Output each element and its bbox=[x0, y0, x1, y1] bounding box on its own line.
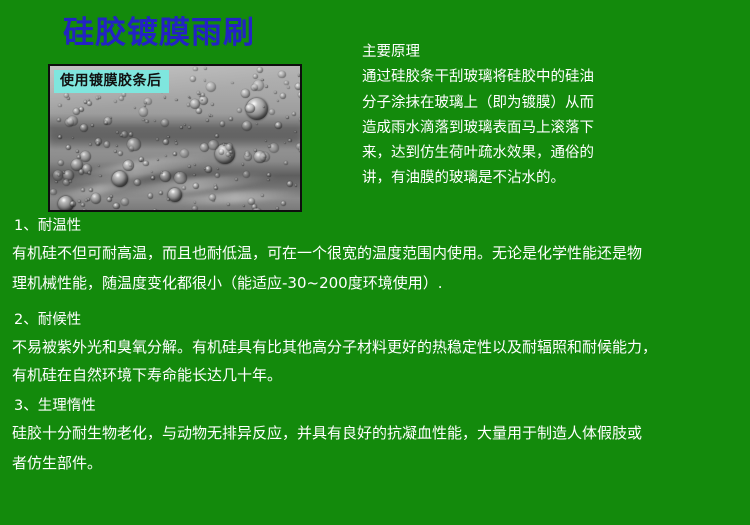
water-droplet bbox=[82, 209, 87, 212]
water-droplet bbox=[67, 116, 77, 126]
principle-block: 主要原理 通过硅胶条干刮玻璃将硅胶中的硅油 分子涂抹在玻璃上（即为镀膜）从而 造… bbox=[362, 40, 742, 192]
water-droplet bbox=[284, 142, 286, 144]
water-droplet bbox=[226, 143, 234, 151]
water-droplet bbox=[281, 201, 286, 206]
water-droplet bbox=[256, 123, 258, 125]
section-line: 有机硅不但可耐高温，而且也耐低温，可在一个很宽的温度范围内使用。无论是化学性能还… bbox=[0, 238, 642, 268]
water-droplet bbox=[88, 99, 90, 101]
feature-section-weather-resistance: 2、耐候性 不易被紫外光和臭氧分解。有机硅具有比其他高分子材料更好的热稳定性以及… bbox=[0, 308, 657, 388]
water-droplet bbox=[77, 155, 81, 159]
water-droplet bbox=[205, 166, 212, 173]
water-droplet bbox=[253, 74, 258, 79]
water-droplet bbox=[278, 71, 286, 79]
principle-line: 来，达到仿生荷叶疏水效果，通俗的 bbox=[362, 141, 742, 166]
product-photo: 使用镀膜胶条后 bbox=[48, 64, 302, 212]
water-droplet bbox=[295, 83, 302, 90]
water-droplet bbox=[298, 74, 300, 76]
water-droplet bbox=[254, 151, 265, 162]
water-droplet bbox=[88, 171, 91, 174]
water-droplet bbox=[220, 121, 225, 126]
water-droplet bbox=[245, 151, 251, 157]
water-droplet bbox=[129, 132, 133, 136]
water-droplet bbox=[227, 203, 230, 206]
water-droplet bbox=[81, 203, 85, 207]
water-droplet bbox=[235, 178, 238, 181]
water-droplet bbox=[58, 160, 64, 166]
water-droplet bbox=[58, 135, 62, 139]
section-line: 有机硅在自然环境下寿命能长达几十年。 bbox=[0, 362, 657, 388]
section-line: 不易被紫外光和臭氧分解。有机硅具有比其他高分子材料更好的热稳定性以及耐辐照和耐候… bbox=[0, 332, 657, 362]
water-droplet bbox=[69, 180, 72, 183]
water-droplet bbox=[57, 118, 61, 122]
principle-heading: 主要原理 bbox=[362, 40, 742, 65]
water-droplet bbox=[134, 179, 141, 186]
water-droplet bbox=[81, 188, 85, 192]
water-droplet bbox=[190, 99, 200, 109]
water-droplet bbox=[70, 201, 76, 207]
water-droplet bbox=[252, 208, 262, 212]
principle-line: 分子涂抹在玻璃上（即为镀膜）从而 bbox=[362, 91, 742, 116]
water-droplet bbox=[139, 107, 149, 117]
water-droplet bbox=[112, 171, 128, 187]
water-droplet bbox=[229, 117, 233, 121]
water-droplet bbox=[210, 115, 213, 118]
page-title: 硅胶镀膜雨刷 bbox=[63, 16, 255, 50]
section-heading: 2、耐候性 bbox=[0, 308, 657, 332]
product-detail-page: 硅胶镀膜雨刷 使用镀膜胶条后 主要原理 通过硅胶条干刮玻璃将硅胶中的硅油 分子涂… bbox=[0, 0, 750, 525]
water-droplet bbox=[275, 122, 282, 129]
water-droplet bbox=[180, 149, 189, 158]
water-droplet bbox=[209, 194, 216, 201]
water-droplet bbox=[299, 117, 302, 123]
water-droplet bbox=[208, 140, 219, 151]
water-droplet bbox=[98, 96, 101, 99]
water-droplet bbox=[114, 150, 117, 153]
section-heading: 3、生理惰性 bbox=[0, 394, 642, 418]
section-line: 硅胶十分耐生物老化，与动物无排异反应，并具有良好的抗凝血性能，大量用于制造人体假… bbox=[0, 418, 642, 448]
water-droplet bbox=[79, 169, 84, 174]
water-droplet bbox=[91, 124, 94, 127]
water-droplet bbox=[269, 143, 280, 154]
water-droplet bbox=[80, 151, 91, 162]
water-droplet bbox=[127, 138, 140, 151]
feature-section-temperature-resistance: 1、耐温性 有机硅不但可耐高温，而且也耐低温，可在一个很宽的温度范围内使用。无论… bbox=[0, 214, 642, 298]
water-droplet bbox=[267, 179, 269, 181]
water-droplet bbox=[188, 126, 191, 129]
water-droplet bbox=[206, 119, 209, 122]
feature-section-physiological-inertness: 3、生理惰性 硅胶十分耐生物老化，与动物无排异反应，并具有良好的抗凝血性能，大量… bbox=[0, 394, 642, 478]
water-droplet bbox=[267, 173, 271, 177]
water-droplet bbox=[241, 89, 250, 98]
water-droplet bbox=[165, 155, 167, 157]
water-droplet bbox=[286, 116, 289, 119]
water-droplet bbox=[237, 108, 242, 113]
photo-caption-label: 使用镀膜胶条后 bbox=[54, 70, 169, 93]
water-droplet bbox=[168, 188, 182, 202]
section-heading: 1、耐温性 bbox=[0, 214, 642, 238]
water-droplet bbox=[299, 145, 302, 155]
water-droplet bbox=[161, 119, 169, 127]
water-droplet bbox=[192, 206, 198, 212]
water-droplet bbox=[231, 82, 233, 84]
water-droplet bbox=[269, 109, 275, 115]
water-droplet bbox=[193, 174, 196, 177]
water-droplet bbox=[80, 124, 88, 132]
water-droplet bbox=[188, 96, 190, 98]
water-droplet bbox=[87, 101, 92, 106]
water-droplet bbox=[156, 138, 159, 141]
water-droplet bbox=[159, 191, 163, 195]
water-droplet bbox=[263, 106, 265, 108]
water-droplet bbox=[254, 149, 257, 152]
section-line: 者仿生部件。 bbox=[0, 448, 642, 478]
water-droplet bbox=[298, 92, 302, 99]
principle-line: 讲，有油膜的玻璃是不沾水的。 bbox=[362, 166, 742, 191]
water-droplet bbox=[276, 207, 279, 210]
water-droplet bbox=[99, 175, 102, 178]
water-droplet bbox=[284, 81, 288, 85]
water-droplet bbox=[139, 157, 144, 162]
water-droplet bbox=[151, 176, 154, 179]
section-line: 理机械性能，随温度变化都很小（能适应-30~200度环境使用）. bbox=[0, 268, 642, 298]
water-droplet bbox=[151, 171, 153, 173]
water-droplet bbox=[157, 210, 160, 212]
water-droplet bbox=[180, 126, 183, 129]
water-droplet bbox=[145, 120, 148, 123]
water-droplet bbox=[121, 131, 128, 138]
water-droplet bbox=[116, 131, 119, 134]
water-droplet bbox=[295, 184, 297, 186]
water-droplet bbox=[268, 145, 271, 148]
principle-line: 造成雨水滴落到玻璃表面马上滚落下 bbox=[362, 116, 742, 141]
water-droplet bbox=[104, 141, 111, 148]
principle-line: 通过硅胶条干刮玻璃将硅胶中的硅油 bbox=[362, 65, 742, 90]
water-droplet bbox=[229, 156, 231, 158]
